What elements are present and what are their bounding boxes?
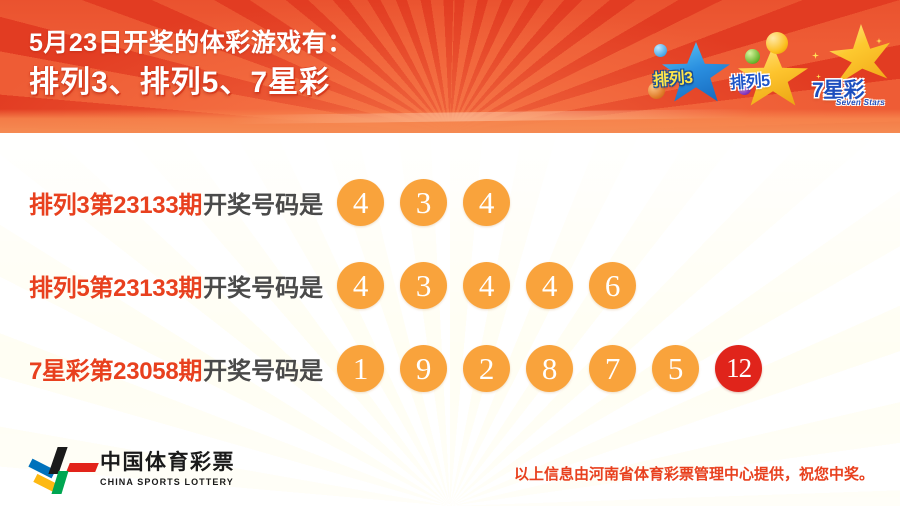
results-list: 排列3第23133期 开奖号码是 4 3 4 排列5第23133期 开奖号码是 …: [0, 133, 900, 433]
header-title-block: 5月23日开奖的体彩游戏有： 排列3、排列5、7星彩: [29, 28, 353, 102]
game-period-text: 排列5第23133期: [29, 268, 202, 303]
sparkle-icon: [812, 52, 819, 59]
result-row: 排列5第23133期 开奖号码是 4 3 4 4 6: [29, 258, 652, 312]
number-ball: 4: [463, 179, 510, 226]
lottery-results-banner: 5月23日开奖的体彩游戏有： 排列3、排列5、7星彩 排列3 排列5: [0, 0, 900, 506]
number-ball: 4: [337, 179, 384, 226]
pailie3-logo: 排列3: [648, 42, 734, 108]
number-ball: 8: [526, 345, 573, 392]
result-row-label: 7星彩第23058期 开奖号码是: [29, 351, 323, 386]
logo-stroke-red-icon: [66, 463, 99, 472]
page-title-line2: 排列3、排列5、7星彩: [29, 63, 353, 102]
result-row-label: 排列3第23133期 开奖号码是: [29, 185, 323, 220]
brand-text: 中国体育彩票 CHINA SPORTS LOTTERY: [100, 451, 235, 487]
number-balls: 4 3 4: [337, 179, 526, 226]
brand-name-en: CHINA SPORTS LOTTERY: [100, 477, 235, 487]
footer: 中国体育彩票 CHINA SPORTS LOTTERY 以上信息由河南省体育彩票…: [0, 432, 900, 506]
number-ball: 1: [337, 345, 384, 392]
result-row: 7星彩第23058期 开奖号码是 1 9 2 8 7 5 12: [29, 341, 778, 395]
pailie5-logo: 排列5: [724, 32, 816, 110]
page-title-line1: 5月23日开奖的体彩游戏有：: [29, 28, 353, 59]
number-ball: 3: [400, 262, 447, 309]
brand-name-cn: 中国体育彩票: [100, 451, 235, 474]
result-row-label: 排列5第23133期 开奖号码是: [29, 268, 323, 303]
china-sports-lottery-logo: 中国体育彩票 CHINA SPORTS LOTTERY: [29, 446, 235, 492]
blue-ball-decoration-icon: [654, 44, 667, 57]
draw-number-text: 开奖号码是: [203, 351, 323, 386]
lottery-logo-mark-icon: [29, 446, 91, 492]
game-period-text: 7星彩第23058期: [29, 351, 202, 386]
pailie5-logo-label: 排列5: [729, 67, 770, 94]
sparkle-icon: [876, 38, 882, 44]
number-ball: 5: [652, 345, 699, 392]
special-number-ball: 12: [715, 345, 762, 392]
number-ball: 2: [463, 345, 510, 392]
header-banner: 5月23日开奖的体彩游戏有： 排列3、排列5、7星彩 排列3 排列5: [0, 0, 900, 133]
number-balls: 1 9 2 8 7 5 12: [337, 345, 778, 392]
number-ball: 7: [589, 345, 636, 392]
logo-stroke-black-icon: [48, 447, 67, 474]
qixingcai-logo-sublabel: Seven Stars: [836, 98, 885, 107]
number-ball: 9: [400, 345, 447, 392]
number-ball: 4: [337, 262, 384, 309]
yellow-ball-decoration-icon: [766, 32, 788, 54]
number-ball: 4: [463, 262, 510, 309]
pailie3-logo-label: 排列3: [652, 64, 693, 91]
green-ball-decoration-icon: [745, 49, 760, 64]
number-ball: 4: [526, 262, 573, 309]
game-period-text: 排列3第23133期: [29, 185, 202, 220]
game-logos: 排列3 排列5 7星彩 Seven Stars: [648, 22, 888, 114]
draw-number-text: 开奖号码是: [203, 185, 323, 220]
logo-stroke-green-icon: [51, 471, 68, 494]
number-balls: 4 3 4 4 6: [337, 262, 652, 309]
footer-disclaimer: 以上信息由河南省体育彩票管理中心提供，祝您中奖。: [514, 463, 874, 484]
result-row: 排列3第23133期 开奖号码是 4 3 4: [29, 175, 526, 229]
qixingcai-logo: 7星彩 Seven Stars: [810, 24, 890, 116]
draw-number-text: 开奖号码是: [203, 268, 323, 303]
number-ball: 3: [400, 179, 447, 226]
number-ball: 6: [589, 262, 636, 309]
